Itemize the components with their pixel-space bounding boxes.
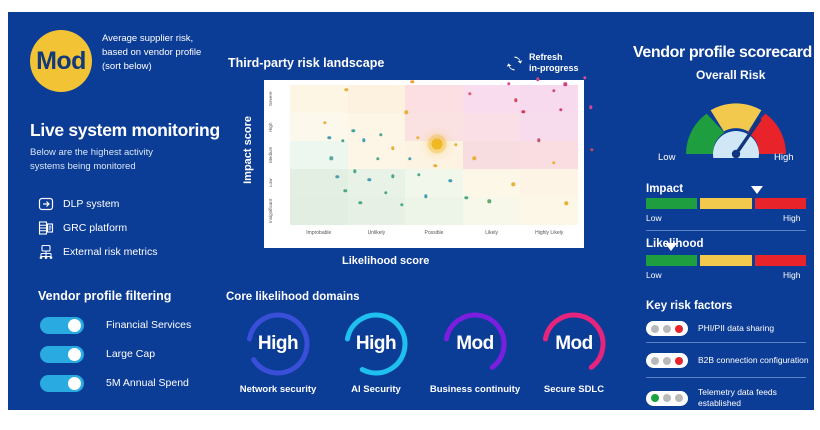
data-point: [448, 179, 451, 182]
filter-label: Large Cap: [106, 348, 155, 360]
data-point: [359, 201, 362, 204]
likelihood-low-label: Low: [646, 270, 662, 280]
data-point: [344, 189, 347, 192]
domain-card-ai-security[interactable]: High AI Security: [328, 310, 424, 395]
data-point: [583, 76, 586, 79]
filter-toggle-annual-spend[interactable]: 5M Annual Spend: [40, 372, 189, 394]
dashboard-panel: Mod Average supplier risk, based on vend…: [8, 12, 814, 410]
monitored-item-label: DLP system: [63, 198, 119, 210]
domain-label: Network security: [230, 384, 326, 395]
y-tick-label: High: [268, 113, 286, 141]
toggle-switch[interactable]: [40, 346, 84, 363]
traffic-light-indicator: [646, 321, 688, 336]
x-tick-label: Highly Likely: [520, 230, 578, 236]
data-point: [323, 121, 326, 124]
domain-value: High: [244, 310, 312, 378]
data-point: [379, 133, 382, 136]
likelihood-high-label: High: [783, 270, 800, 280]
avatar-description: Average supplier risk, based on vendor p…: [102, 32, 214, 74]
x-tick-label: Likely: [463, 230, 521, 236]
gauge-low-label: Low: [658, 152, 675, 163]
data-point: [512, 182, 515, 185]
domain-value: Mod: [540, 310, 608, 378]
data-point: [416, 136, 419, 139]
filter-label: 5M Annual Spend: [106, 377, 189, 389]
y-tick-label: Insignificant: [268, 197, 286, 225]
key-risk-factors-title: Key risk factors: [646, 300, 732, 312]
y-tick-label: Low: [268, 169, 286, 197]
monitored-item-label: External risk metrics: [63, 246, 158, 258]
gauge-title: Overall Risk: [696, 68, 765, 82]
scatter-points-layer: [290, 85, 578, 225]
data-point: [336, 175, 339, 178]
gauge-high-label: High: [774, 152, 794, 163]
y-tick-label: Severe: [268, 85, 286, 113]
toggle-switch[interactable]: [40, 375, 84, 392]
x-tick-label: Possible: [405, 230, 463, 236]
scatter-title: Third-party risk landscape: [228, 56, 384, 70]
refresh-icon: [506, 55, 523, 72]
domain-value: High: [342, 310, 410, 378]
risk-factor-label: B2B connection configuration: [698, 355, 809, 366]
grc-icon: [38, 220, 54, 236]
data-point: [384, 191, 387, 194]
filter-toggle-financial-services[interactable]: Financial Services: [40, 314, 191, 336]
domain-ring: High: [244, 310, 312, 378]
data-point: [391, 175, 394, 178]
data-point: [590, 148, 593, 151]
x-tick-label: Improbable: [290, 230, 348, 236]
risk-factor-phi-pii[interactable]: PHI/PII data sharing: [646, 321, 814, 336]
data-point: [410, 80, 413, 83]
risk-factor-label: Telemetry data feeds established: [698, 387, 814, 409]
traffic-light-indicator: [646, 353, 688, 368]
impact-meter-title: Impact: [646, 183, 683, 195]
data-point: [362, 139, 365, 142]
impact-low-label: Low: [646, 213, 662, 223]
impact-marker: [751, 186, 763, 194]
domain-card-network-security[interactable]: High Network security: [230, 310, 326, 395]
data-point: [473, 157, 476, 160]
data-point: [537, 139, 540, 142]
scorecard-title: Vendor profile scorecard: [633, 44, 812, 62]
data-point: [589, 106, 592, 109]
data-point: [400, 203, 403, 206]
data-point: [368, 178, 371, 181]
risk-divider: [646, 377, 806, 378]
monitored-item-grc[interactable]: GRC platform: [38, 218, 228, 238]
monitored-item-dlp[interactable]: DLP system: [38, 194, 228, 214]
data-point: [488, 200, 491, 203]
data-point: [559, 108, 562, 111]
risk-factor-telemetry[interactable]: Telemetry data feeds established: [646, 387, 814, 409]
data-point: [536, 78, 539, 81]
data-point: [424, 195, 427, 198]
highlighted-data-point: [432, 138, 443, 149]
avatar: Mod: [30, 30, 92, 92]
data-point: [454, 143, 457, 146]
core-domains-title: Core likelihood domains: [226, 291, 360, 303]
toggle-switch[interactable]: [40, 317, 84, 334]
impact-high-label: High: [783, 213, 800, 223]
x-tick-label: Unlikely: [348, 230, 406, 236]
data-point: [327, 136, 330, 139]
risk-landscape-chart: SevereHighMediumLowInsignificantImprobab…: [264, 80, 584, 248]
data-point: [391, 147, 394, 150]
domain-label: Business continuity: [427, 384, 523, 395]
domain-card-business-continuity[interactable]: Mod Business continuity: [427, 310, 523, 395]
vendor-filter-title: Vendor profile filtering: [38, 289, 171, 303]
risk-factor-b2b[interactable]: B2B connection configuration: [646, 353, 814, 368]
live-monitoring-title: Live system monitoring: [30, 120, 220, 141]
y-axis-title: Impact score: [242, 116, 254, 184]
meter-divider: [646, 230, 806, 231]
refresh-line-2: in-progress: [529, 63, 579, 74]
likelihood-marker: [665, 243, 677, 251]
monitored-item-label: GRC platform: [63, 222, 127, 234]
data-point: [552, 161, 555, 164]
domain-ring: Mod: [540, 310, 608, 378]
monitored-item-external-risk[interactable]: External risk metrics: [38, 242, 228, 262]
filter-label: Financial Services: [106, 319, 191, 331]
y-tick-label: Medium: [268, 141, 286, 169]
data-point: [330, 157, 333, 160]
domain-ring: High: [342, 310, 410, 378]
likelihood-meter-bar: [646, 255, 806, 266]
data-point: [565, 201, 568, 204]
filter-toggle-large-cap[interactable]: Large Cap: [40, 343, 155, 365]
data-point: [465, 196, 468, 199]
data-point: [564, 83, 567, 86]
data-point: [417, 173, 420, 176]
data-point: [507, 82, 510, 85]
data-point: [353, 170, 356, 173]
data-point: [408, 157, 411, 160]
data-point: [522, 110, 525, 113]
avatar-label: Mod: [36, 47, 86, 76]
domain-card-secure-sdlc[interactable]: Mod Secure SDLC: [526, 310, 622, 395]
data-point: [341, 139, 344, 142]
overall-risk-gauge: [680, 84, 792, 158]
data-point: [552, 89, 555, 92]
refresh-status[interactable]: Refresh in-progress: [506, 52, 579, 74]
refresh-line-1: Refresh: [529, 52, 579, 63]
data-point: [514, 99, 517, 102]
data-point: [433, 164, 436, 167]
data-point: [405, 111, 408, 114]
network-metrics-icon: [38, 244, 54, 260]
live-monitoring-subtitle: Below are the highest activity systems b…: [30, 146, 190, 174]
data-point: [468, 92, 471, 95]
risk-divider: [646, 342, 806, 343]
domain-label: Secure SDLC: [526, 384, 622, 395]
domain-ring: Mod: [441, 310, 509, 378]
impact-meter-bar: [646, 198, 806, 209]
domain-value: Mod: [441, 310, 509, 378]
data-point: [352, 129, 355, 132]
dlp-icon: [38, 196, 54, 212]
x-axis-title: Likelihood score: [342, 255, 429, 267]
data-point: [345, 88, 348, 91]
traffic-light-indicator: [646, 391, 688, 406]
domain-label: AI Security: [328, 384, 424, 395]
risk-factor-label: PHI/PII data sharing: [698, 323, 774, 334]
data-point: [376, 157, 379, 160]
